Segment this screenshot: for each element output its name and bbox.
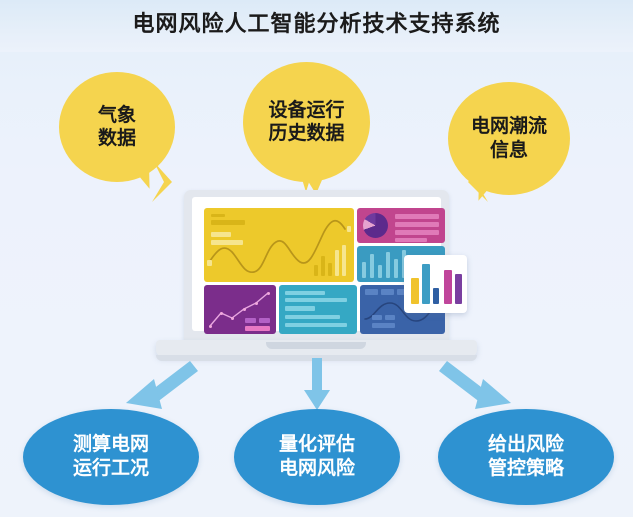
mini-bar [335,250,339,276]
pie-legend-row [395,222,439,227]
bar-navy [433,288,439,304]
ellipse-line-1: 测算电网 [73,433,149,457]
input-bubble-power-flow[interactable]: 电网潮流 信息 [448,82,570,195]
bubble-line-2: 信息 [490,139,528,162]
arrow-down-left-icon [120,355,200,415]
bubble-tail-icon [296,160,316,192]
bar [362,262,366,278]
bar-purple [455,274,462,304]
dashboard-panel-growth-line[interactable] [204,285,276,334]
page-title: 电网风险人工智能分析技术支持系统 [0,6,633,38]
ellipse-line-2: 电网风险 [279,457,355,481]
dashboard-panel-main-trend[interactable] [204,208,354,282]
bubble-line-1: 设备运行 [268,99,344,122]
axis-marker [347,226,351,232]
ellipse-line-2: 管控策略 [488,457,564,481]
output-ellipse-risk-assessment[interactable]: 量化评估 电网风险 [234,409,400,505]
bubble-line-2: 数据 [98,127,136,150]
pie-legend-row [395,214,439,219]
ellipse-line-2: 运行工况 [73,457,149,481]
panel-tag [259,318,270,323]
text-line [285,315,340,319]
data-point [267,292,270,295]
axis-marker [207,260,212,266]
mini-bar [328,263,332,276]
text-line [285,306,315,311]
pie-chart-icon [363,213,388,238]
bar [386,252,390,278]
bubble-tail-icon [470,169,499,204]
data-point [209,325,212,328]
dashboard-panel-pie[interactable] [357,208,445,243]
bar [378,265,382,278]
infographic-canvas: 电网风险人工智能分析技术支持系统 气象 数据 设备运行 历史数据 电网潮流 信息 [0,0,633,517]
data-point [231,317,234,320]
data-point [255,302,258,305]
bubble-line-1: 气象 [98,104,136,127]
bar-magenta [444,270,452,304]
arrow-down-icon [300,358,334,413]
input-bubble-weather[interactable]: 气象 数据 [59,72,175,182]
bubble-line-1: 电网潮流 [471,115,547,138]
mini-bar [342,245,346,276]
bubble-line-2: 历史数据 [268,122,344,145]
mini-bar [314,265,318,276]
bar-yellow [411,278,419,304]
bar [370,254,374,278]
bar-teal [422,264,430,304]
pie-legend-row [395,230,439,235]
arrow-down-right-icon [437,355,517,415]
output-ellipse-operating-condition[interactable]: 测算电网 运行工况 [23,409,199,505]
text-line [285,291,325,295]
text-line [285,323,347,327]
output-ellipse-control-strategy[interactable]: 给出风险 管控策略 [438,409,614,505]
panel-tag [245,326,270,331]
bubble-tail-icon [129,157,158,192]
panel-tag [372,323,395,328]
ellipse-line-1: 给出风险 [488,433,564,457]
panel-tag [385,315,395,320]
panel-tag [372,315,382,320]
pie-legend-row [395,238,427,242]
input-bubble-equipment-history[interactable]: 设备运行 历史数据 [243,62,370,182]
panel-tag [245,318,256,323]
dashboard-panel-text-report[interactable] [279,285,357,334]
text-line [285,298,347,302]
ellipse-line-1: 量化评估 [279,433,355,457]
mini-bar [321,256,325,276]
floating-bar-chart-card[interactable] [404,255,467,313]
data-point [243,308,246,311]
bar [394,259,398,278]
data-point [220,312,223,315]
